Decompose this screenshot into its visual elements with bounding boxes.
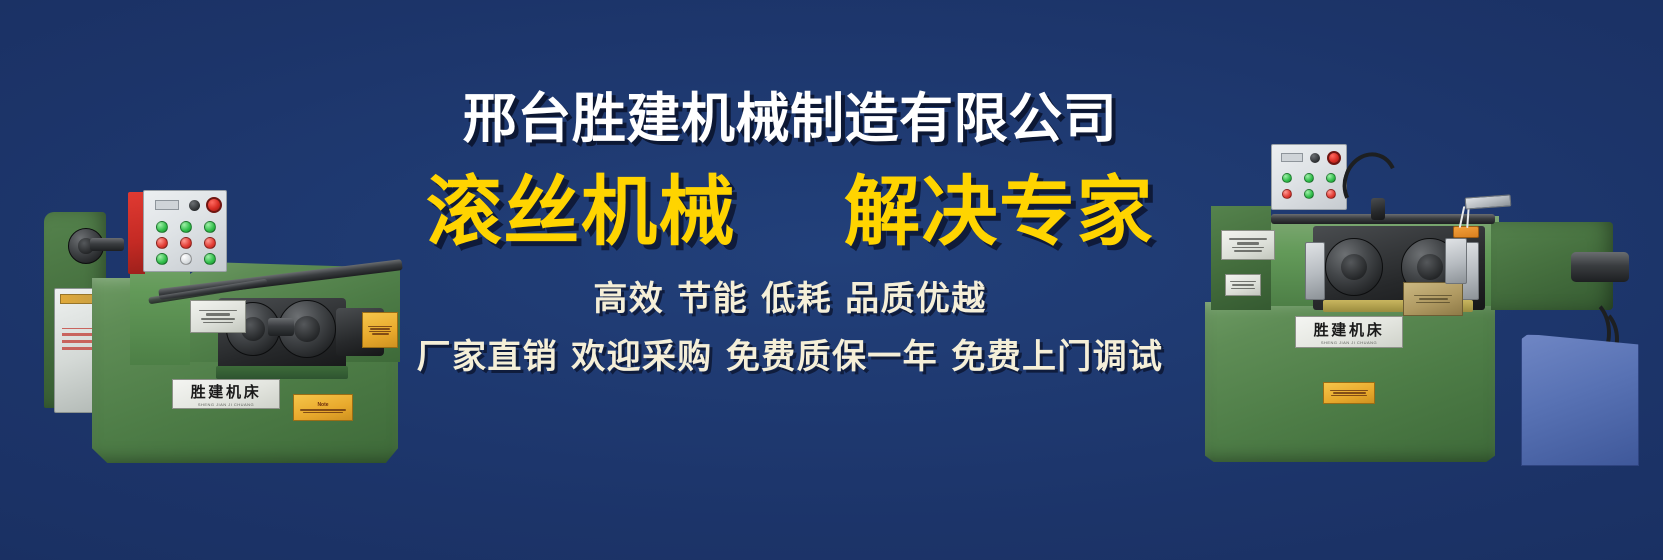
left-machine-indicator-7[interactable]: [156, 253, 168, 265]
left-machine-cabinet-decal: [62, 328, 94, 350]
left-machine-nameplate: 胜建机床 SHENG JIAN JI CHUANG: [172, 379, 280, 409]
left-machine-spec-plate: [190, 300, 246, 333]
left-machine-indicator-4[interactable]: [156, 237, 168, 249]
left-machine-selector-knob[interactable]: [189, 200, 200, 211]
left-machine-end-shaft: [90, 238, 124, 251]
left-machine-nameplate-cn: 胜建机床: [191, 381, 262, 402]
headline: 滚丝机械 解决专家: [390, 172, 1190, 252]
left-machine-cabinet-vent: [60, 294, 96, 304]
right-machine-control-panel: [1271, 144, 1347, 210]
headline-left: 滚丝机械: [426, 172, 736, 252]
banner-text-block: 邢台胜建机械制造有限公司 滚丝机械 解决专家 高效 节能 低耗 品质优越 厂家直…: [390, 92, 1190, 432]
left-machine-warning-label: Note: [293, 394, 353, 421]
right-machine-output-shaft: [1571, 252, 1629, 282]
thread-rolling-machine-left: 胜建机床 SHENG JIAN JI CHUANG Note: [30, 90, 410, 465]
right-machine-top-fixture: [1465, 194, 1512, 209]
right-machine-display-slot: [1281, 153, 1303, 162]
right-machine-nameplate: 胜建机床 SHENG JIAN JI CHUANG: [1295, 316, 1403, 348]
right-machine-spec-plate: [1221, 230, 1275, 260]
company-name: 邢台胜建机械制造有限公司: [390, 92, 1190, 146]
right-machine-indicator-1[interactable]: [1282, 173, 1292, 183]
right-machine-indicator-5[interactable]: [1304, 189, 1314, 199]
right-machine-indicator-4[interactable]: [1282, 189, 1292, 199]
left-machine-warning-title: Note: [317, 402, 328, 408]
subtitle-line-2: 厂家直销 欢迎采购 免费质保一年 免费上门调试: [390, 340, 1190, 374]
right-machine-cable-gland: [1371, 198, 1385, 220]
promotional-banner: 胜建机床 SHENG JIAN JI CHUANG Note: [0, 0, 1663, 560]
left-machine-indicator-3[interactable]: [204, 221, 216, 233]
subtitle-line-1: 高效 节能 低耗 品质优越: [390, 282, 1190, 316]
thread-rolling-machine-right: 胜建机床 SHENG JIAN JI CHUANG: [1175, 110, 1645, 460]
right-machine-nameplate-cn: 胜建机床: [1314, 319, 1385, 340]
left-machine-indicator-1[interactable]: [156, 221, 168, 233]
right-machine-indicator-6[interactable]: [1326, 189, 1336, 199]
right-machine-auxiliary-cabinet: [1521, 334, 1639, 466]
left-machine-nameplate-pinyin: SHENG JIAN JI CHUANG: [198, 402, 254, 407]
left-machine-emergency-stop-button[interactable]: [206, 197, 222, 213]
right-machine-indicator-3[interactable]: [1326, 173, 1336, 183]
left-machine-indicator-8[interactable]: [180, 253, 192, 265]
left-machine-display-slot: [155, 200, 179, 210]
right-machine-roller-1: [1325, 238, 1383, 296]
left-machine-indicator-6[interactable]: [204, 237, 216, 249]
right-machine-slide-left: [1305, 242, 1325, 300]
right-machine-nameplate-pinyin: SHENG JIAN JI CHUANG: [1321, 340, 1377, 345]
right-machine-selector-knob[interactable]: [1310, 153, 1320, 163]
right-machine-brass-plate: [1403, 282, 1463, 316]
headline-right: 解决专家: [844, 172, 1154, 252]
left-machine-head-plinth: [216, 366, 348, 379]
right-machine-parameter-plate: [1225, 274, 1261, 296]
left-machine-indicator-2[interactable]: [180, 221, 192, 233]
left-machine-control-panel: [143, 190, 227, 272]
right-machine-valve-unit: [1445, 238, 1467, 284]
right-machine-warning-decal: [1323, 382, 1375, 404]
left-machine-roller-shaft: [268, 318, 294, 336]
left-machine-indicator-5[interactable]: [180, 237, 192, 249]
left-machine-indicator-9[interactable]: [204, 253, 216, 265]
right-machine-indicator-2[interactable]: [1304, 173, 1314, 183]
right-machine-emergency-stop-button[interactable]: [1327, 151, 1341, 165]
